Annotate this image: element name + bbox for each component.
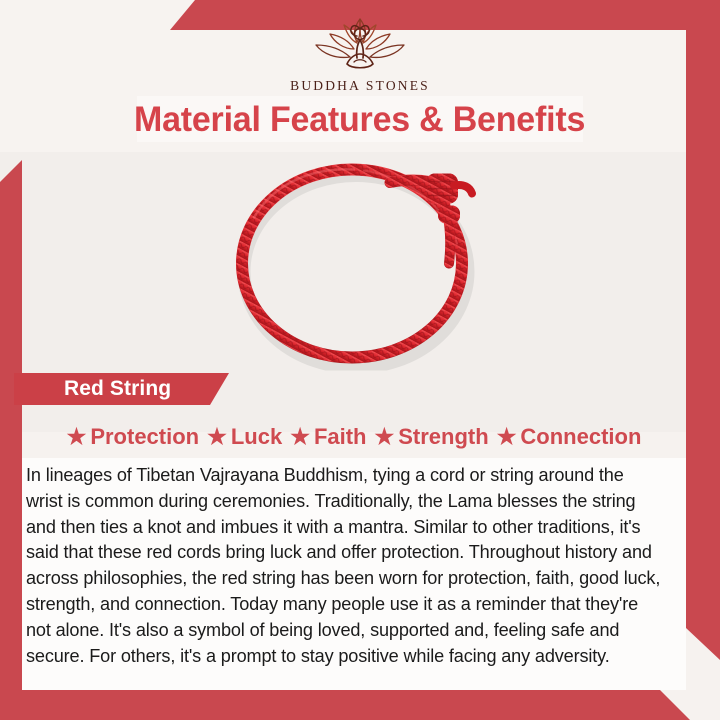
benefit-item-faith: ★ Faith	[286, 424, 370, 450]
product-image-area	[22, 152, 686, 374]
benefit-item-protection: ★ Protection	[63, 424, 204, 450]
benefit-label: Connection	[520, 424, 641, 450]
title-panel: Material Features & Benefits	[137, 96, 583, 142]
benefit-label: Luck	[231, 424, 282, 450]
page-title: Material Features & Benefits	[134, 102, 585, 137]
benefit-item-connection: ★ Connection	[493, 424, 646, 450]
benefit-item-luck: ★ Luck	[203, 424, 286, 450]
lotus-meditation-icon	[308, 14, 412, 76]
ribbon-label: Red String	[64, 377, 171, 401]
benefit-label: Protection	[90, 424, 199, 450]
description-panel: In lineages of Tibetan Vajrayana Buddhis…	[22, 458, 686, 690]
star-icon: ★	[497, 426, 517, 448]
star-icon: ★	[290, 426, 310, 448]
right-red-bar	[686, 0, 720, 660]
star-icon: ★	[375, 426, 395, 448]
star-icon: ★	[207, 426, 227, 448]
benefit-label: Strength	[398, 424, 488, 450]
red-braided-bracelet-image	[214, 156, 494, 371]
infographic-card: BUDDHA STONES Material Features & Benefi…	[0, 0, 720, 720]
star-icon: ★	[67, 426, 87, 448]
benefit-item-strength: ★ Strength	[371, 424, 493, 450]
bottom-red-bar	[0, 690, 720, 720]
benefits-row: ★ Protection ★ Luck ★ Faith ★ Strength ★…	[22, 418, 686, 456]
benefit-label: Faith	[314, 424, 367, 450]
brand-wordmark: BUDDHA STONES	[290, 78, 430, 94]
description-text: In lineages of Tibetan Vajrayana Buddhis…	[26, 462, 662, 668]
brand-logo: BUDDHA STONES	[0, 14, 720, 94]
left-red-bar	[0, 160, 22, 720]
red-string-ribbon: Red String	[14, 373, 229, 405]
